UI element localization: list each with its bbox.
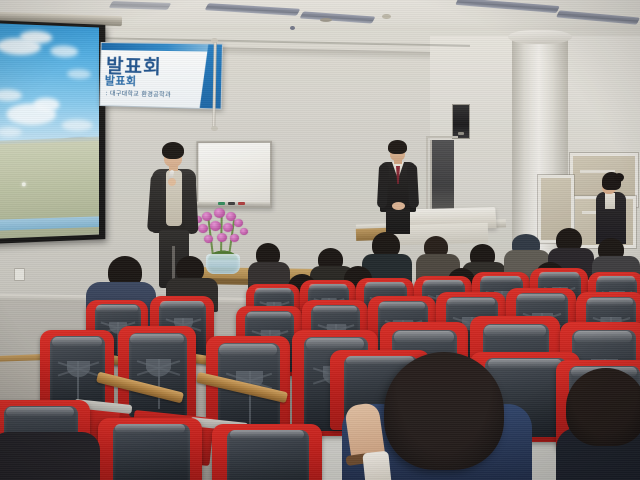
presenter-arm-right (182, 174, 198, 235)
wall-speaker (452, 104, 470, 139)
foreground-attendee-left (0, 392, 100, 480)
projected-image (0, 23, 99, 239)
banner-pole-cap (211, 126, 218, 131)
ceiling-fixture-icon (382, 14, 391, 19)
auditorium-seat[interactable] (212, 424, 322, 480)
paper-handout (362, 451, 391, 480)
auditorium-seat[interactable] (98, 418, 202, 480)
column-capital (508, 30, 572, 44)
event-banner: 발표회 발표회 : 대구대학교 환경공학과 (99, 42, 223, 110)
attendee-shoulders (0, 432, 100, 480)
projected-caption-text (0, 225, 12, 226)
presenter-hair (162, 142, 184, 159)
speaker-grille (458, 132, 464, 135)
standing-man-in-suit (378, 140, 418, 232)
banner-subtitle: : 대구대학교 환경공학과 (105, 88, 171, 99)
presenter-hand (168, 178, 176, 186)
woman-shirt (605, 193, 615, 209)
hair (388, 140, 407, 154)
black-marker-icon (228, 202, 235, 205)
wall-outlet-icon (14, 268, 25, 281)
clasped-hands (392, 202, 405, 210)
orchid-pot (206, 254, 240, 274)
foreground-attendee (330, 352, 530, 480)
trousers (386, 210, 410, 234)
banner-pole-cap (211, 38, 218, 43)
whiteboard (196, 141, 272, 208)
attendee-hair (384, 352, 504, 470)
arm-right (407, 164, 419, 208)
attendee-hair (566, 368, 640, 446)
banner-subheadline: 발표회 (105, 72, 137, 89)
projection-screen (0, 20, 105, 244)
ceiling-fixture-icon (320, 18, 332, 22)
field-highlight (22, 182, 26, 186)
photo-scene: 발표회 발표회 : 대구대학교 환경공학과 (0, 0, 640, 480)
hair-bun (614, 173, 624, 182)
green-marker-icon (218, 202, 225, 205)
seat-emblem (236, 371, 263, 425)
red-marker-icon (238, 202, 245, 205)
foreground-attendee-right (556, 368, 640, 480)
standing-woman-right (594, 172, 628, 244)
